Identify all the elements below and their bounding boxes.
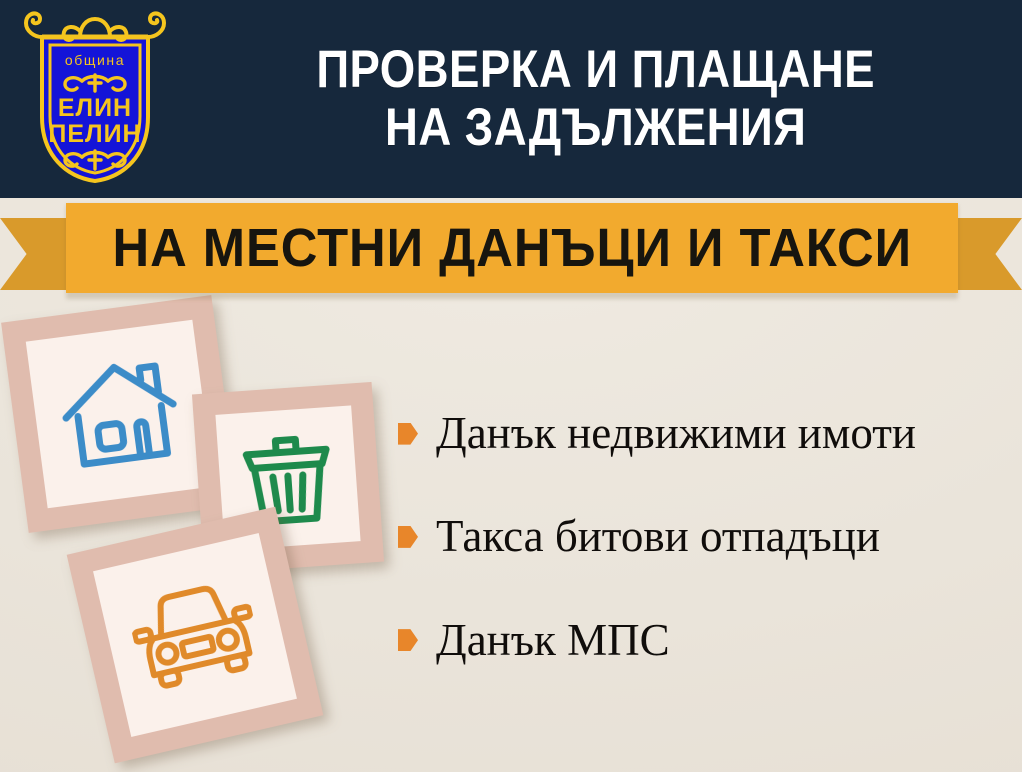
arrow-bullet-icon [398,629,418,651]
logo-name-line-2: ПЕЛИН [48,120,141,148]
subtitle-ribbon: НА МЕСТНИ ДАНЪЦИ И ТАКСИ [0,196,1022,306]
list-item-label: Данък МПС [436,617,670,664]
list-item-label: Такса битови отпадъци [436,513,880,560]
list-item-label: Данък недвижими имоти [436,410,916,457]
stamp-collage [0,300,400,770]
poster-canvas: община ЕЛИН ПЕЛИН [0,0,1022,772]
tax-type-list: Данък недвижими имоти Такса битови отпад… [398,410,1013,664]
house-icon [54,352,185,476]
car-icon [124,573,265,698]
logo-name-line-1: ЕЛИН [58,94,132,122]
coat-of-arms-icon: община ЕЛИН ПЕЛИН [20,9,170,189]
municipality-logo: община ЕЛИН ПЕЛИН [0,0,190,198]
header-banner: община ЕЛИН ПЕЛИН [0,0,1022,198]
list-item: Данък недвижими имоти [398,410,1013,457]
arrow-bullet-icon [398,423,418,445]
ribbon-band: НА МЕСТНИ ДАНЪЦИ И ТАКСИ [66,203,958,293]
stamp-paper [26,320,214,508]
list-item: Такса битови отпадъци [398,513,1013,560]
page-title: ПРОВЕРКА И ПЛАЩАНЕ НА ЗАДЪЛЖЕНИЯ [248,41,964,158]
stamp-paper [93,533,297,737]
logo-small-word: община [65,52,125,68]
arrow-bullet-icon [398,526,418,548]
ribbon-label: НА МЕСТНИ ДАНЪЦИ И ТАКСИ [112,221,912,275]
list-item: Данък МПС [398,617,1013,664]
